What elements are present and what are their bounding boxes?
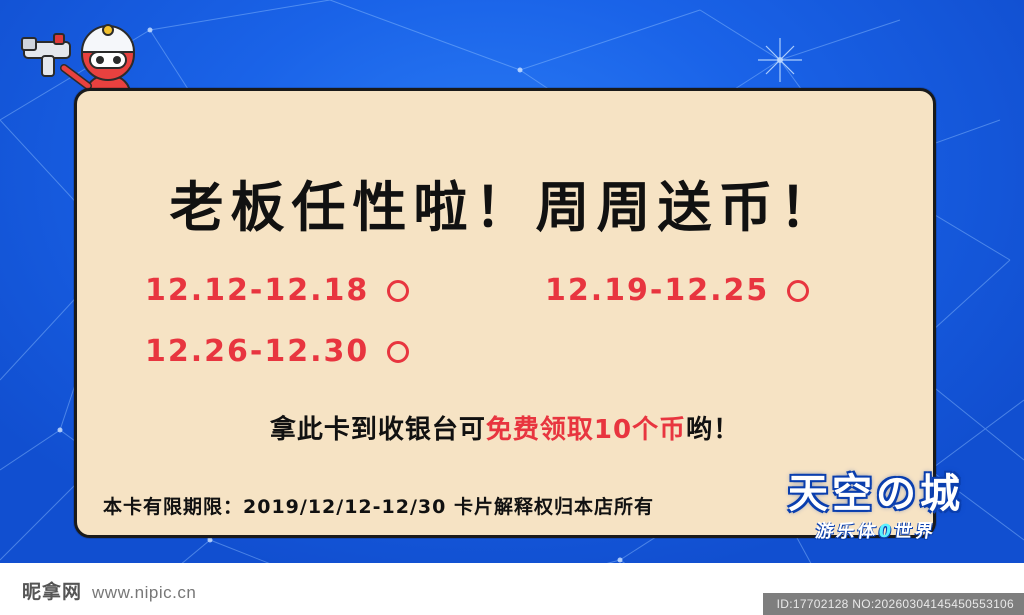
- poster-canvas: 老板任性啦！周周送币！ 12.12-12.18 12.19-12.25 12.2…: [0, 0, 1024, 615]
- date-row: 12.26-12.30: [145, 334, 885, 369]
- circle-marker-icon: [387, 341, 409, 363]
- watermark-logo-text: 昵拿网: [22, 577, 82, 604]
- watermark: 昵拿网 www.nipic.cn: [22, 577, 196, 604]
- date-item: 12.19-12.25: [545, 273, 809, 308]
- date-range-text: 12.12-12.18: [145, 273, 369, 308]
- date-ranges-group: 12.12-12.18 12.19-12.25 12.26-12.30: [145, 273, 885, 395]
- validity-fineprint: 本卡有限期限：2019/12/12-12/30 卡片解释权归本店所有: [103, 492, 654, 519]
- image-id-label: ID:17702128 NO:20260304145450553106: [763, 593, 1024, 615]
- watermark-url-text: www.nipic.cn: [92, 583, 196, 603]
- headline-text: 老板任性啦！周周送币！: [77, 163, 933, 242]
- brand-logo-main: 天空の城: [756, 473, 996, 515]
- circle-marker-icon: [787, 280, 809, 302]
- brand-logo-sub: 游乐体0世界: [754, 517, 998, 543]
- redeem-note-prefix: 拿此卡到收银台可: [270, 415, 486, 445]
- date-range-text: 12.19-12.25: [545, 273, 769, 308]
- redeem-note-highlight: 免费领取10个币: [486, 415, 686, 445]
- date-row: 12.12-12.18 12.19-12.25: [145, 273, 885, 308]
- brand-logo: 天空の城 游乐体0世界: [756, 473, 996, 557]
- date-item: 12.12-12.18: [145, 273, 545, 308]
- redeem-note-suffix: 哟！: [686, 415, 740, 445]
- redeem-note: 拿此卡到收银台可免费领取10个币哟！: [77, 409, 933, 446]
- brand-logo-sub-left: 游乐体: [814, 521, 880, 542]
- circle-marker-icon: [387, 280, 409, 302]
- brand-logo-sub-right: 世界: [893, 521, 938, 542]
- date-range-text: 12.26-12.30: [145, 334, 369, 369]
- date-item: 12.26-12.30: [145, 334, 545, 369]
